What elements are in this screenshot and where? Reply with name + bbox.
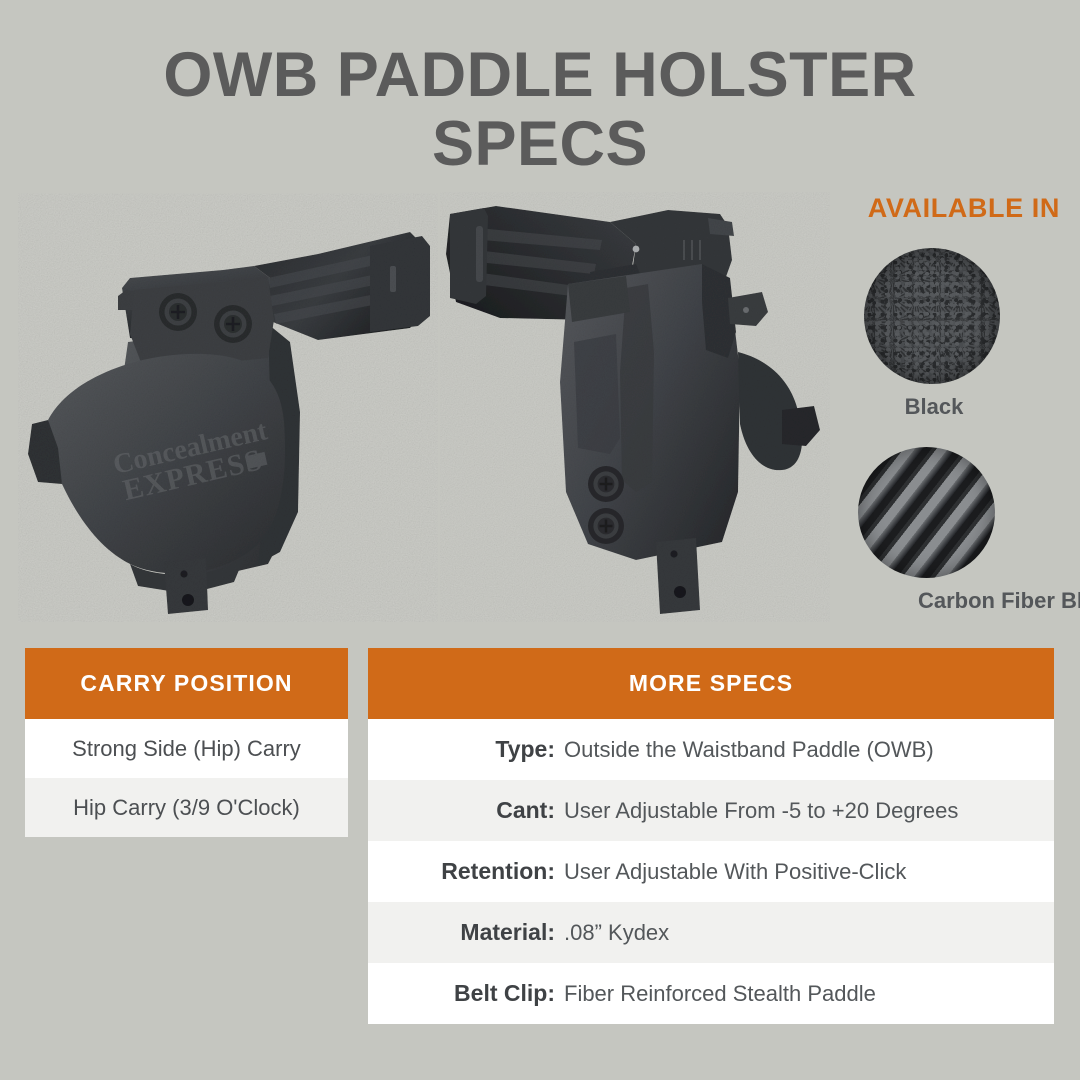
page-title-line-1: OWB PADDLE HOLSTER (0, 44, 1080, 107)
table-row: Hip Carry (3/9 O'Clock) (25, 778, 348, 837)
swatch-label-carbon-fiber-black: Carbon Fiber Black (918, 588, 998, 614)
carry-position-value: Hip Carry (3/9 O'Clock) (73, 795, 300, 821)
spec-label-material: Material: (368, 919, 564, 946)
page-title: OWB PADDLE HOLSTER SPECS (0, 44, 1080, 176)
table-row: Strong Side (Hip) Carry (25, 719, 348, 778)
page-title-line-2: SPECS (0, 113, 1080, 176)
swatch-label-black: Black (864, 394, 1004, 420)
swatch-item-carbon-fiber-black[interactable]: Carbon Fiber Black (858, 447, 998, 614)
spec-value-cant: User Adjustable From -5 to +20 Degrees (564, 798, 958, 824)
table-row: Retention: User Adjustable With Positive… (368, 841, 1054, 902)
swatch-item-black[interactable]: Black (864, 248, 1004, 420)
available-in-heading: AVAILABLE IN (760, 193, 1060, 224)
spec-value-retention: User Adjustable With Positive-Click (564, 859, 906, 885)
table-row: Cant: User Adjustable From -5 to +20 Deg… (368, 780, 1054, 841)
spec-value-belt-clip: Fiber Reinforced Stealth Paddle (564, 981, 876, 1007)
table-row: Material: .08” Kydex (368, 902, 1054, 963)
texture-swatch-carbon-fiber-icon (858, 447, 995, 578)
product-image-rear-paddle-view: Concealment EXPRESS (18, 192, 438, 622)
table-row: Belt Clip: Fiber Reinforced Stealth Padd… (368, 963, 1054, 1024)
spec-label-cant: Cant: (368, 797, 564, 824)
carry-position-table-header: CARRY POSITION (25, 648, 348, 719)
spec-value-type: Outside the Waistband Paddle (OWB) (564, 737, 934, 763)
spec-label-retention: Retention: (368, 858, 564, 885)
product-image-front-shell-view (440, 192, 830, 622)
carry-position-value: Strong Side (Hip) Carry (72, 736, 301, 762)
spec-label-type: Type: (368, 736, 564, 763)
carry-position-table: CARRY POSITION Strong Side (Hip) Carry H… (25, 648, 348, 837)
table-row: Type: Outside the Waistband Paddle (OWB) (368, 719, 1054, 780)
spec-label-belt-clip: Belt Clip: (368, 980, 564, 1007)
more-specs-table-header: MORE SPECS (368, 648, 1054, 719)
spec-value-material: .08” Kydex (564, 920, 669, 946)
texture-swatch-black-icon (864, 248, 1000, 384)
more-specs-table: MORE SPECS Type: Outside the Waistband P… (368, 648, 1054, 1024)
available-in-section: AVAILABLE IN (760, 193, 1060, 224)
